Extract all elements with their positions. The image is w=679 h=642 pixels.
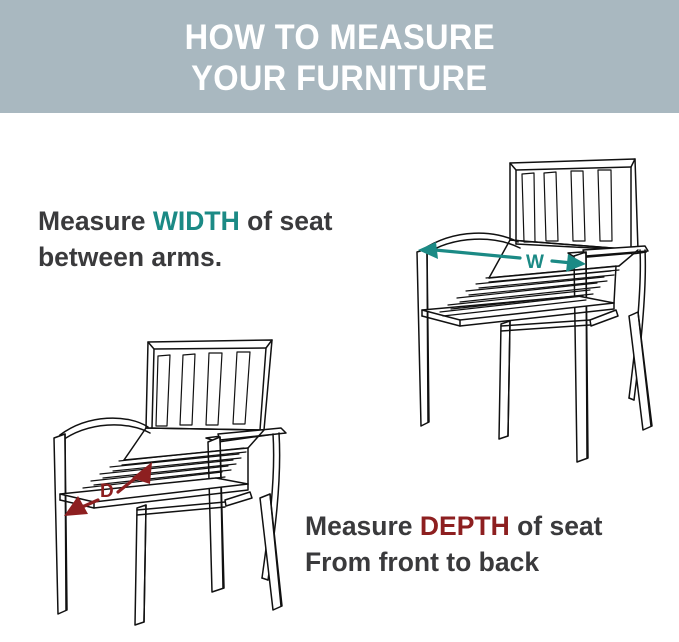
caption-depth-prefix: Measure: [305, 511, 420, 541]
caption-measure-depth: Measure DEPTH of seat From front to back: [305, 508, 603, 580]
chair-illustration-width: W: [400, 140, 679, 470]
caption-depth-keyword: DEPTH: [420, 511, 510, 541]
caption-depth-line-1: Measure DEPTH of seat: [305, 508, 603, 544]
infographic-page: HOW TO MEASURE YOUR FURNITURE Measure WI…: [0, 0, 679, 642]
header-title-line-1: HOW TO MEASURE: [184, 17, 494, 58]
header-title-line-2: YOUR FURNITURE: [191, 58, 487, 99]
caption-width-line-2: between arms.: [38, 239, 333, 275]
width-arrow-label: W: [526, 252, 544, 273]
caption-width-suffix: of seat: [240, 206, 333, 236]
caption-depth-line-2: From front to back: [305, 544, 603, 580]
depth-arrow-label: D: [100, 481, 114, 502]
caption-width-line-1: Measure WIDTH of seat: [38, 203, 333, 239]
chair-depth-outline: [54, 340, 286, 625]
caption-width-prefix: Measure: [38, 206, 153, 236]
caption-measure-width: Measure WIDTH of seat between arms.: [38, 203, 333, 275]
caption-depth-suffix: of seat: [510, 511, 603, 541]
header-banner: HOW TO MEASURE YOUR FURNITURE: [0, 0, 679, 113]
chair-illustration-depth: D: [20, 320, 300, 642]
chair-width-outline: [417, 159, 652, 462]
caption-width-keyword: WIDTH: [153, 206, 240, 236]
